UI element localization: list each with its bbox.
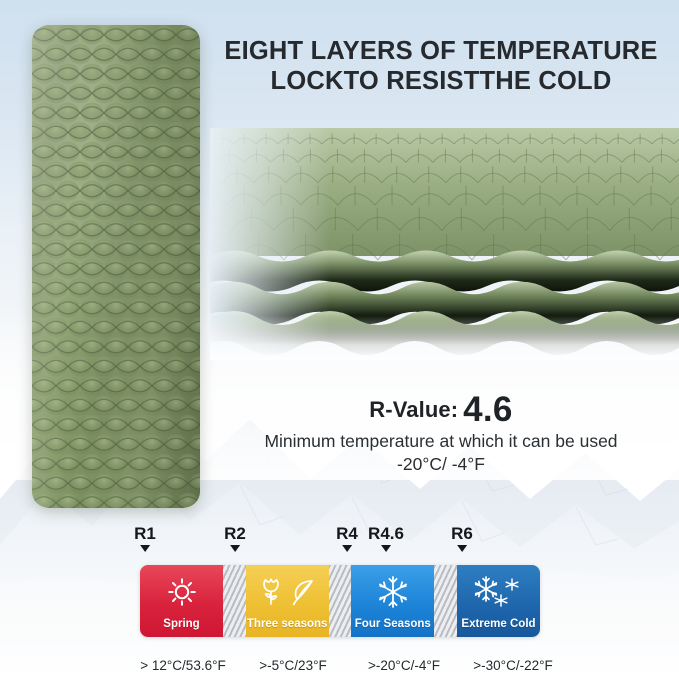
snowflake-icon xyxy=(351,574,434,610)
tulip-leaf-icon xyxy=(246,574,329,610)
r-value-scale: R1 R2 R4 R4.6 R6 xyxy=(0,525,679,675)
marker-arrow-icon xyxy=(457,545,467,552)
scale-divider-hatch xyxy=(329,565,352,637)
page-title: EIGHT LAYERS OF TEMPERATURE LOCKTO RESIS… xyxy=(212,36,670,96)
marker-arrow-icon xyxy=(140,545,150,552)
scale-marker-r2: R2 xyxy=(224,525,246,552)
temperature-range-spring: > 12°C/53.6°F xyxy=(140,658,225,673)
scale-divider-hatch xyxy=(223,565,246,637)
scale-divider-hatch xyxy=(434,565,457,637)
sun-icon xyxy=(140,574,223,610)
r-value-display: R-Value:4.6 xyxy=(215,390,667,430)
r-value-label: R-Value: xyxy=(369,397,458,422)
marker-arrow-icon xyxy=(230,545,240,552)
marker-arrow-icon xyxy=(381,545,391,552)
headline-line-2: LOCKTO RESISTTHE COLD xyxy=(212,66,670,96)
description-line-2: -20°C/ -4°F xyxy=(203,453,679,476)
season-scale-bar: Spring Three sea xyxy=(140,565,540,637)
scale-marker-r1: R1 xyxy=(134,525,156,552)
scale-markers: R1 R2 R4 R4.6 R6 xyxy=(0,525,679,565)
temperature-captions: > 12°C/53.6°F >-5°C/23°F >-20°C/-4°F >-3… xyxy=(0,658,679,679)
description-line-1: Minimum temperature at which it can be u… xyxy=(203,430,679,453)
scale-marker-r4-6: R4.6 xyxy=(368,525,404,552)
temperature-range-four-seasons: >-20°C/-4°F xyxy=(368,658,440,673)
segment-label: Four Seasons xyxy=(355,618,431,637)
scale-segment-extreme-cold: Extreme Cold xyxy=(457,565,540,637)
temperature-range-three-seasons: >-5°C/23°F xyxy=(259,658,326,673)
scale-marker-r4: R4 xyxy=(336,525,358,552)
headline-line-1: EIGHT LAYERS OF TEMPERATURE xyxy=(224,37,657,65)
layer-stack-illustration xyxy=(210,128,679,360)
scale-segment-three-seasons: Three seasons xyxy=(246,565,329,637)
temperature-range-extreme-cold: >-30°C/-22°F xyxy=(473,658,552,673)
r-value-number: 4.6 xyxy=(463,390,513,429)
segment-label: Spring xyxy=(163,618,199,637)
pad-cell-texture xyxy=(32,25,200,508)
r-value-description: Minimum temperature at which it can be u… xyxy=(203,430,679,477)
segment-label: Three seasons xyxy=(247,618,328,637)
product-infographic: EIGHT LAYERS OF TEMPERATURE LOCKTO RESIS… xyxy=(0,0,679,679)
scale-segment-four-seasons: Four Seasons xyxy=(351,565,434,637)
scale-marker-r6: R6 xyxy=(451,525,473,552)
product-photo-sleeping-pad: Naturehike xyxy=(32,25,200,508)
scale-segment-spring: Spring xyxy=(140,565,223,637)
snowflakes-icon xyxy=(457,574,540,610)
segment-label: Extreme Cold xyxy=(461,618,535,637)
marker-arrow-icon xyxy=(342,545,352,552)
